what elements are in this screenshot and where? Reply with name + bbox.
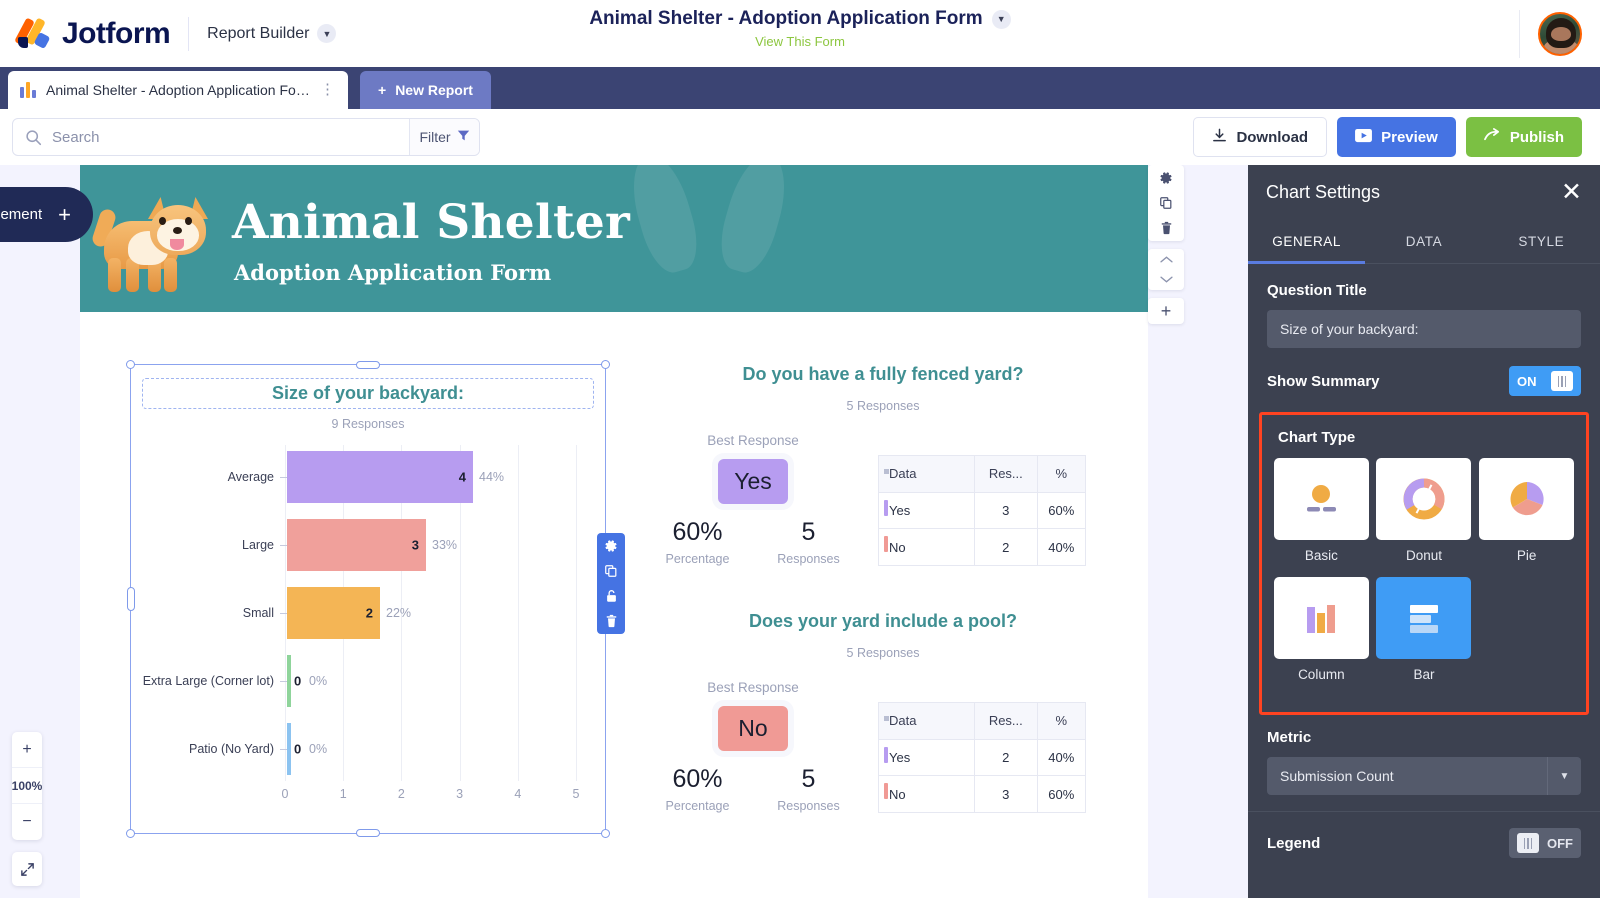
basic-chart-icon xyxy=(1297,479,1345,519)
table-cell-count: 3 xyxy=(975,776,1038,813)
stat-row: 60% Percentage 5 Responses xyxy=(628,518,878,566)
bar-label: Large xyxy=(142,538,280,552)
table-cell-data: Yes xyxy=(879,739,975,776)
stat-label: Percentage xyxy=(642,799,753,813)
search-box[interactable]: Filter xyxy=(12,118,480,156)
table-cell-pct: 60% xyxy=(1037,492,1085,529)
bar-percent: 33% xyxy=(432,538,457,552)
table-cell-pct: 40% xyxy=(1037,529,1085,566)
table-header-row: Data Res... % xyxy=(879,456,1086,493)
question-data-table: Data Res... % Yes 2 40% xyxy=(878,702,1086,813)
best-response-value: No xyxy=(738,715,767,742)
preview-label: Preview xyxy=(1381,129,1438,146)
show-summary-state: ON xyxy=(1517,374,1537,389)
chart-type-donut[interactable]: Donut xyxy=(1373,458,1476,563)
add-element-label: Add Element xyxy=(0,206,42,223)
report-tab-strip: Animal Shelter - Adoption Application Fo… xyxy=(0,67,1600,109)
bar-label: Extra Large (Corner lot) xyxy=(142,674,280,688)
tab-report-label: Animal Shelter - Adoption Application Fo… xyxy=(46,82,310,98)
chart-type-bar[interactable]: Bar xyxy=(1373,577,1476,682)
preview-button[interactable]: Preview xyxy=(1337,117,1456,157)
zoom-in-button[interactable]: + xyxy=(12,732,42,768)
chart-type-basic[interactable]: Basic xyxy=(1270,458,1373,563)
chart-type-name: Column xyxy=(1298,667,1345,682)
pie-chart-icon xyxy=(1504,476,1550,522)
filter-label: Filter xyxy=(419,129,450,145)
metric-value: Submission Count xyxy=(1267,768,1547,784)
filter-icon xyxy=(457,129,470,145)
stat-percentage: 60% Percentage xyxy=(642,518,753,566)
zoom-out-button[interactable]: − xyxy=(12,804,42,840)
trash-icon[interactable] xyxy=(605,614,618,628)
chart-response-count: 9 Responses xyxy=(131,417,605,431)
best-response-block: Best Response Yes 60% Percentage xyxy=(628,433,878,566)
close-icon[interactable]: ✕ xyxy=(1561,180,1582,205)
download-icon xyxy=(1212,128,1227,147)
bar-value: 2 xyxy=(366,606,373,621)
report-sheet: Animal Shelter Adoption Application Form xyxy=(80,165,1148,898)
x-tick-label: 2 xyxy=(398,787,405,801)
question-summary-column: Do you have a fully fenced yard? 5 Respo… xyxy=(628,364,1138,813)
search-icon xyxy=(13,129,52,146)
table-cell-count: 3 xyxy=(975,492,1038,529)
bar-value: 0 xyxy=(294,674,301,689)
download-button[interactable]: Download xyxy=(1193,117,1327,157)
chart-type-section: Chart Type Basic xyxy=(1259,412,1589,715)
panel-tabs: GENERAL DATA STYLE xyxy=(1248,220,1600,264)
stat-row: 60% Percentage 5 Responses xyxy=(628,765,878,813)
table-row: No 3 60% xyxy=(879,776,1086,813)
table-cell-pct: 40% xyxy=(1037,739,1085,776)
bar-percent: 44% xyxy=(479,470,504,484)
view-this-form-link[interactable]: View This Form xyxy=(0,34,1600,49)
stat-responses: 5 Responses xyxy=(753,765,864,813)
pie-chart-tile[interactable] xyxy=(1479,458,1574,540)
stat-percentage: 60% Percentage xyxy=(642,765,753,813)
x-tick-label: 3 xyxy=(456,787,463,801)
plus-icon[interactable]: + xyxy=(1161,304,1172,318)
table-cell-data: Yes xyxy=(879,492,975,529)
best-response-label: Best Response xyxy=(628,680,878,695)
column-chart-tile[interactable] xyxy=(1274,577,1369,659)
column-chart-icon xyxy=(1298,597,1344,639)
best-response-label: Best Response xyxy=(628,433,878,448)
bar-chart-tile[interactable] xyxy=(1376,577,1471,659)
bar-label: Small xyxy=(142,606,280,620)
question-response-count: 5 Responses xyxy=(628,646,1138,660)
move-tools-group xyxy=(1148,249,1184,290)
x-tick-label: 0 xyxy=(282,787,289,801)
show-summary-toggle[interactable]: ON xyxy=(1509,366,1581,396)
chart-type-name: Pie xyxy=(1517,548,1537,563)
table-cell-data: No xyxy=(879,529,975,566)
form-title: Animal Shelter - Adoption Application Fo… xyxy=(589,8,982,30)
axis-tick xyxy=(280,613,287,614)
question-title: Does your yard include a pool? xyxy=(628,611,1138,632)
publish-button[interactable]: Publish xyxy=(1466,117,1582,157)
table-header-cell: % xyxy=(1037,703,1085,740)
resize-handle[interactable] xyxy=(601,829,610,838)
stat-value: 5 xyxy=(753,765,864,794)
metric-select[interactable]: Submission Count ▼ xyxy=(1267,757,1581,795)
resize-handle[interactable] xyxy=(356,829,380,837)
page-tools-group xyxy=(1148,165,1184,241)
table-row: No 2 40% xyxy=(879,529,1086,566)
canvas-side-tools: + xyxy=(1148,165,1184,332)
toggle-knob-icon xyxy=(1517,833,1539,853)
toggle-knob-icon xyxy=(1551,371,1573,391)
duplicate-icon[interactable] xyxy=(1159,196,1173,210)
chart-settings-panel: Chart Settings ✕ GENERAL DATA STYLE Ques… xyxy=(1248,165,1600,898)
bar-label: Average xyxy=(142,470,280,484)
chart-plot-area: Average 4 44% Large xyxy=(142,445,594,819)
legend-toggle[interactable]: OFF xyxy=(1509,828,1581,858)
new-report-button[interactable]: + New Report xyxy=(360,71,491,109)
best-response-value: Yes xyxy=(734,468,772,495)
chart-type-name: Donut xyxy=(1406,548,1442,563)
element-action-toolbar xyxy=(597,533,625,634)
stat-value: 60% xyxy=(642,518,753,547)
question-block[interactable]: Do you have a fully fenced yard? 5 Respo… xyxy=(628,364,1138,566)
resize-handle[interactable] xyxy=(127,587,135,611)
bar-value: 4 xyxy=(459,470,466,485)
add-tool-group: + xyxy=(1148,298,1184,324)
chevron-up-icon[interactable] xyxy=(1159,255,1174,264)
bar-label: Patio (No Yard) xyxy=(142,742,280,756)
plus-icon: + xyxy=(58,204,71,226)
add-element-button[interactable]: Add Element + xyxy=(0,187,93,242)
metric-label: Metric xyxy=(1267,729,1581,746)
plus-icon: + xyxy=(378,82,386,98)
chart-x-axis: 0 1 2 3 4 5 xyxy=(285,787,576,809)
chart-bar-row[interactable]: Average 4 44% xyxy=(142,451,594,503)
search-input[interactable] xyxy=(52,129,409,146)
table-header-cell: Res... xyxy=(975,703,1038,740)
bar[interactable]: 4 xyxy=(287,451,473,503)
chart-element-selected[interactable]: Size of your backyard: 9 Responses xyxy=(130,364,606,834)
toolbar-actions: Download Preview Publish xyxy=(1193,117,1588,157)
table-header-cell: Data xyxy=(879,703,975,740)
table-cell-count: 2 xyxy=(975,739,1038,776)
axis-tick xyxy=(280,749,287,750)
filter-button[interactable]: Filter xyxy=(409,119,479,155)
zoom-level: 100% xyxy=(12,768,42,804)
tab-data[interactable]: DATA xyxy=(1365,220,1482,263)
report-content-card: Size of your backyard: 9 Responses xyxy=(108,323,1148,898)
tab-general[interactable]: GENERAL xyxy=(1248,220,1365,263)
donut-chart-tile[interactable] xyxy=(1376,458,1471,540)
bar-value: 3 xyxy=(412,538,419,553)
axis-tick xyxy=(280,477,287,478)
hero-title: Animal Shelter xyxy=(232,195,630,250)
table-cell-count: 2 xyxy=(975,529,1038,566)
tab-menu-icon[interactable]: ⋮ xyxy=(320,86,336,94)
stat-responses: 5 Responses xyxy=(753,518,864,566)
panel-header: Chart Settings ✕ xyxy=(1248,165,1600,220)
resize-handle[interactable] xyxy=(126,829,135,838)
stat-label: Responses xyxy=(753,552,864,566)
avatar[interactable] xyxy=(1538,12,1582,56)
best-response-chip: Yes xyxy=(718,459,788,504)
question-response-count: 5 Responses xyxy=(628,399,1138,413)
tab-style[interactable]: STYLE xyxy=(1483,220,1600,263)
table-row: Yes 3 60% xyxy=(879,492,1086,529)
x-tick-label: 1 xyxy=(340,787,347,801)
chevron-down-icon[interactable]: ▼ xyxy=(1547,757,1581,795)
chart-type-grid: Basic Donut xyxy=(1270,458,1578,696)
chart-bar-row[interactable]: Patio (No Yard) 0 0% xyxy=(142,723,594,775)
chart-icon xyxy=(20,82,36,98)
chart-title: Size of your backyard: xyxy=(272,383,464,404)
table-header-cell: Data xyxy=(879,456,975,493)
show-summary-row: Show Summary ON xyxy=(1248,348,1600,396)
resize-handle[interactable] xyxy=(601,360,610,369)
bar-percent: 22% xyxy=(386,606,411,620)
report-builder-app: Jotform Report Builder ▼ Animal Shelter … xyxy=(0,0,1600,898)
top-bar: Jotform Report Builder ▼ Animal Shelter … xyxy=(0,0,1600,67)
legend-row: Legend OFF xyxy=(1248,812,1600,858)
axis-tick xyxy=(280,545,287,546)
resize-handle[interactable] xyxy=(356,361,380,369)
table-cell-pct: 60% xyxy=(1037,776,1085,813)
bar[interactable]: 3 xyxy=(287,519,426,571)
bar-value: 0 xyxy=(294,742,301,757)
x-tick-label: 5 xyxy=(573,787,580,801)
chart-rows: Average 4 44% Large xyxy=(142,445,594,781)
play-icon xyxy=(1355,128,1372,147)
form-title-button[interactable]: Animal Shelter - Adoption Application Fo… xyxy=(589,8,1010,30)
zoom-controls: + 100% − xyxy=(12,732,42,840)
best-response-chip: No xyxy=(718,706,788,751)
donut-chart-icon xyxy=(1401,476,1447,522)
duplicate-icon[interactable] xyxy=(604,564,618,578)
hero-subtitle: Adoption Application Form xyxy=(234,260,551,285)
bar-percent: 0% xyxy=(309,742,327,756)
stat-label: Percentage xyxy=(642,552,753,566)
fit-to-screen-button[interactable] xyxy=(12,852,42,886)
resize-handle[interactable] xyxy=(126,360,135,369)
lock-icon[interactable] xyxy=(605,589,618,603)
chevron-down-icon[interactable]: ▼ xyxy=(992,10,1011,29)
table-cell-data: No xyxy=(879,776,975,813)
question-title-input[interactable]: Size of your backyard: xyxy=(1267,310,1581,348)
chart-type-pie[interactable]: Pie xyxy=(1475,458,1578,563)
bar[interactable]: 2 xyxy=(287,587,380,639)
tab-report[interactable]: Animal Shelter - Adoption Application Fo… xyxy=(8,71,348,109)
bar[interactable]: 0 xyxy=(287,655,291,707)
axis-tick xyxy=(280,681,287,682)
report-header-banner: Animal Shelter Adoption Application Form xyxy=(80,165,1148,312)
best-response-block: Best Response No 60% Percentage xyxy=(628,680,878,813)
share-arrow-icon xyxy=(1484,128,1501,147)
stat-label: Responses xyxy=(753,799,864,813)
table-header-cell: % xyxy=(1037,456,1085,493)
chart-type-name: Bar xyxy=(1413,667,1434,682)
dog-illustration-icon xyxy=(102,187,214,292)
basic-chart-tile[interactable] xyxy=(1274,458,1369,540)
metric-section: Metric Submission Count ▼ xyxy=(1248,715,1600,795)
new-report-label: New Report xyxy=(395,82,473,98)
question-title: Do you have a fully fenced yard? xyxy=(628,364,1138,385)
chart-bar-row[interactable]: Large 3 33% xyxy=(142,519,594,571)
chart-bar-row[interactable]: Extra Large (Corner lot) 0 0% xyxy=(142,655,594,707)
trash-icon[interactable] xyxy=(1160,221,1173,235)
table-header-row: Data Res... % xyxy=(879,703,1086,740)
chart-type-label: Chart Type xyxy=(1278,429,1578,446)
bar[interactable]: 0 xyxy=(287,723,291,775)
gear-icon[interactable] xyxy=(1159,171,1173,185)
bar-chart-icon xyxy=(1401,597,1447,639)
question-title-section: Question Title Size of your backyard: xyxy=(1248,264,1600,348)
legend-state: OFF xyxy=(1547,836,1573,851)
bar-percent: 0% xyxy=(309,674,327,688)
show-summary-label: Show Summary xyxy=(1267,373,1380,390)
download-label: Download xyxy=(1236,129,1308,146)
chart-type-name: Basic xyxy=(1305,548,1338,563)
panel-title: Chart Settings xyxy=(1266,182,1380,203)
action-toolbar: Filter Download Preview xyxy=(0,109,1600,165)
chart-bar-row[interactable]: Small 2 22% xyxy=(142,587,594,639)
question-block[interactable]: Does your yard include a pool? 5 Respons… xyxy=(628,611,1138,813)
table-row: Yes 2 40% xyxy=(879,739,1086,776)
question-title-label: Question Title xyxy=(1267,282,1581,299)
gear-icon[interactable] xyxy=(604,539,618,553)
stat-value: 5 xyxy=(753,518,864,547)
legend-label: Legend xyxy=(1267,835,1320,852)
chart-type-column[interactable]: Column xyxy=(1270,577,1373,682)
chevron-down-icon[interactable] xyxy=(1159,275,1174,284)
stat-value: 60% xyxy=(642,765,753,794)
x-tick-label: 4 xyxy=(514,787,521,801)
question-data-table: Data Res... % Yes 3 60% xyxy=(878,455,1086,566)
chart-title-editable[interactable]: Size of your backyard: xyxy=(142,378,594,409)
publish-label: Publish xyxy=(1510,129,1564,146)
table-header-cell: Res... xyxy=(975,456,1038,493)
